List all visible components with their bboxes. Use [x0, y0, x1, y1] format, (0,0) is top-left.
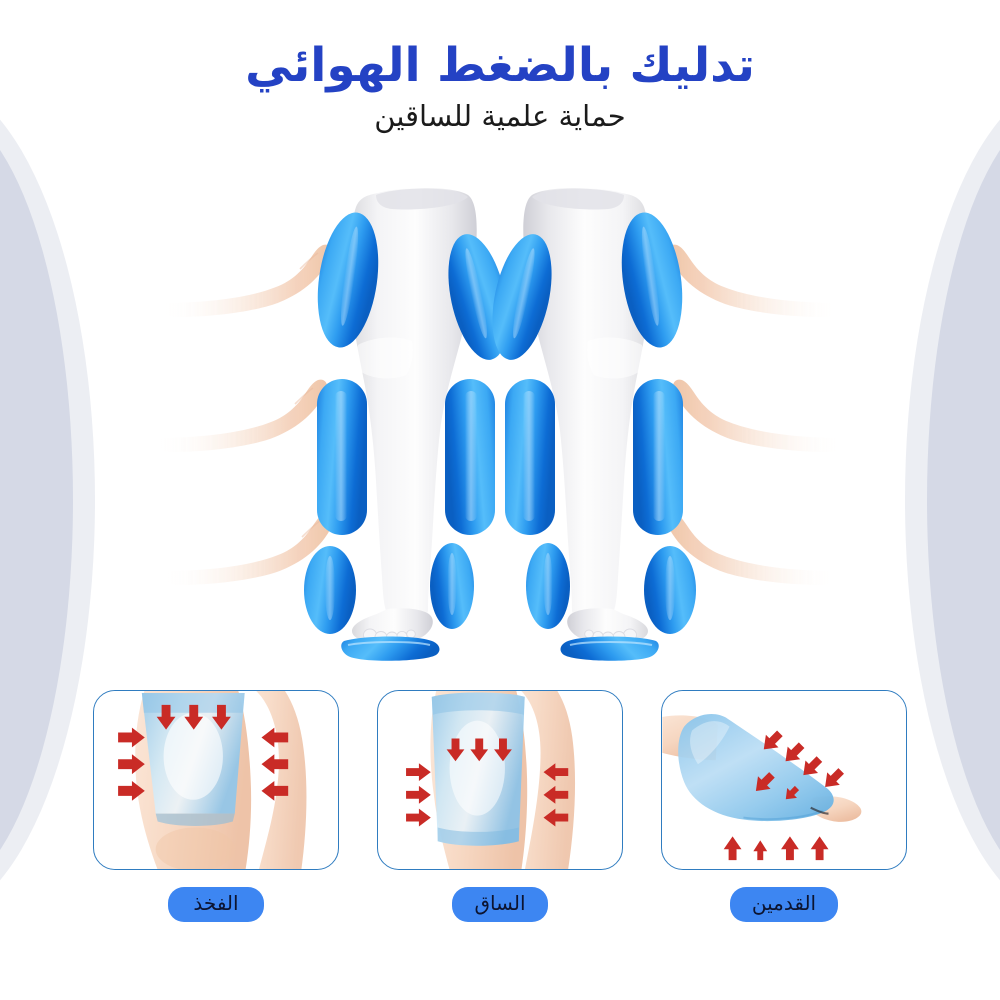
- arrow-set-top: [157, 705, 231, 730]
- header: تدليك بالضغط الهوائي حماية علمية للساقين: [0, 40, 1000, 133]
- label-thigh[interactable]: الفخذ: [168, 887, 264, 922]
- ankle-airbag-outer-right: [644, 546, 696, 634]
- arrow-set-right: [261, 728, 288, 801]
- arrow-set-left: [406, 763, 431, 826]
- feature-cards: الفخذ: [0, 690, 1000, 950]
- card-calf[interactable]: الساق: [377, 690, 623, 950]
- card-thigh[interactable]: الفخذ: [93, 690, 339, 950]
- massage-hands-right: [666, 245, 845, 585]
- foot-plate-right: [561, 637, 659, 661]
- ankle-airbag-inner-right: [526, 543, 570, 629]
- page-title: تدليك بالضغط الهوائي: [0, 40, 1000, 93]
- calf-airbag-outer-left: [317, 379, 367, 535]
- massage-hands-left: [155, 245, 334, 585]
- ankle-airbag-inner-left: [430, 543, 474, 629]
- label-feet[interactable]: القدمين: [730, 887, 838, 922]
- card-feet-image: [661, 690, 907, 870]
- card-calf-image: [377, 690, 623, 870]
- hero-illustration: [0, 185, 1000, 675]
- foot-plate-left: [341, 637, 439, 661]
- calf-airbag-inner-right: [505, 379, 555, 535]
- page-subtitle: حماية علمية للساقين: [0, 99, 1000, 133]
- arrow-set-top: [447, 738, 512, 761]
- poster-root: تدليك بالضغط الهوائي حماية علمية للساقين: [0, 0, 1000, 1000]
- card-thigh-image: [93, 690, 339, 870]
- calf-airbag-inner-left: [445, 379, 495, 535]
- label-calf[interactable]: الساق: [452, 887, 548, 922]
- arrow-set-left: [118, 728, 145, 801]
- card-feet[interactable]: القدمين: [661, 690, 907, 950]
- ankle-airbag-outer-left: [304, 546, 356, 634]
- calf-airbag-outer-right: [633, 379, 683, 535]
- arrow-set-right: [544, 763, 569, 826]
